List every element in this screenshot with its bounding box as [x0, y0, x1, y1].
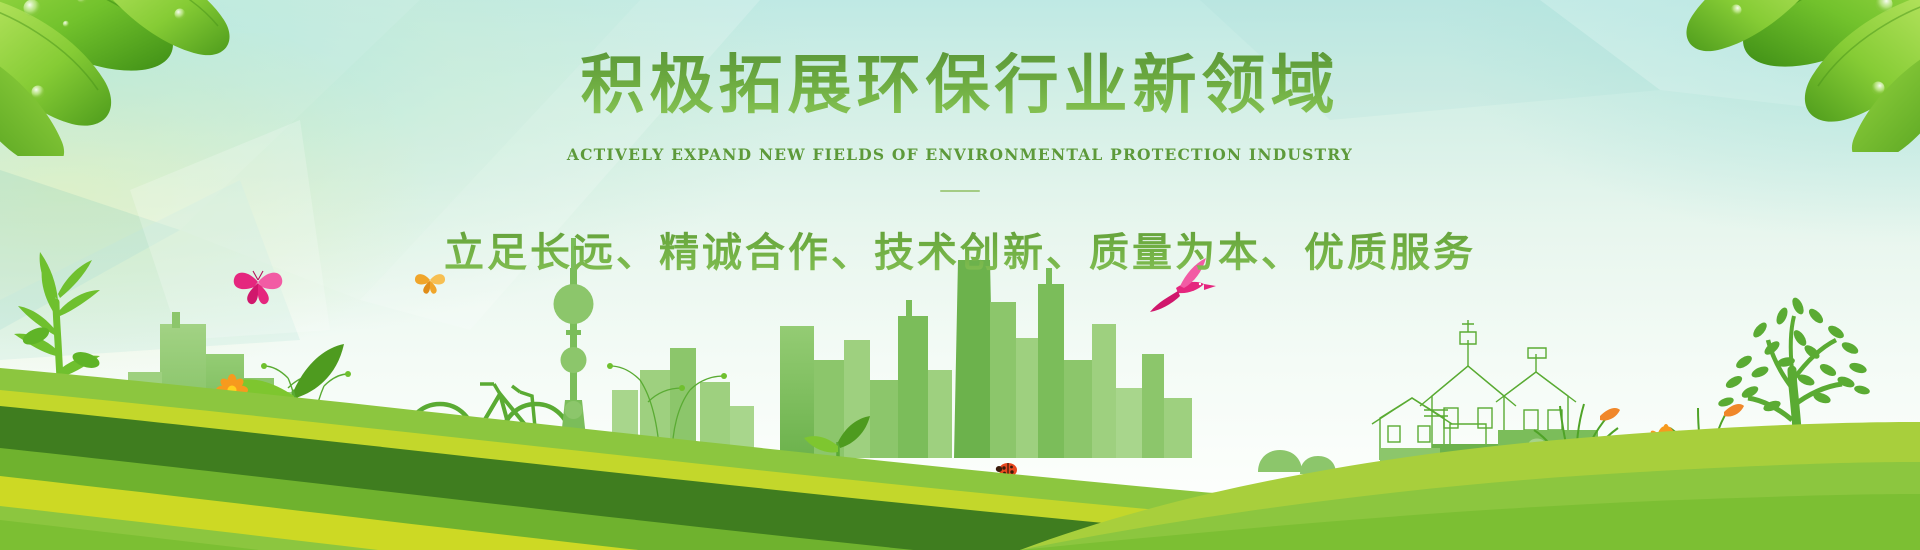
divider: [940, 190, 980, 192]
tagline: 立足长远、精诚合作、技术创新、质量为本、优质服务: [0, 220, 1920, 278]
environmental-banner: 积极拓展环保行业新领域 ACTIVELY EXPAND NEW FIELDS O…: [0, 0, 1920, 550]
right-ground-hill: [1020, 350, 1920, 550]
banner-text-block: 积极拓展环保行业新领域 ACTIVELY EXPAND NEW FIELDS O…: [0, 52, 1920, 278]
subtitle-english: ACTIVELY EXPAND NEW FIELDS OF ENVIRONMEN…: [0, 145, 1920, 164]
page-title: 积极拓展环保行业新领域: [0, 52, 1920, 119]
